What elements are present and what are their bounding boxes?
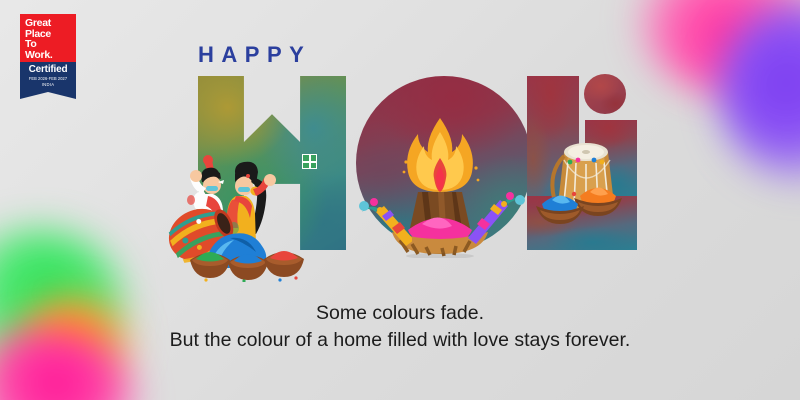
pichkari-water-gun-left bbox=[358, 196, 412, 248]
holi-letter-i-dot bbox=[584, 74, 626, 114]
tagline: Some colours fade. But the colour of a h… bbox=[0, 300, 800, 354]
blue-and-orange-powder-bowls bbox=[536, 180, 628, 224]
holi-greeting-poster: Great Place To Work. Certified FEB 2026-… bbox=[0, 0, 800, 400]
pichkari-water-gun-right bbox=[468, 190, 526, 246]
tagline-line-2: But the colour of a home filled with lov… bbox=[0, 327, 800, 354]
colour-powder-bowls-left bbox=[188, 242, 308, 282]
tagline-line-1: Some colours fade. bbox=[316, 302, 484, 324]
